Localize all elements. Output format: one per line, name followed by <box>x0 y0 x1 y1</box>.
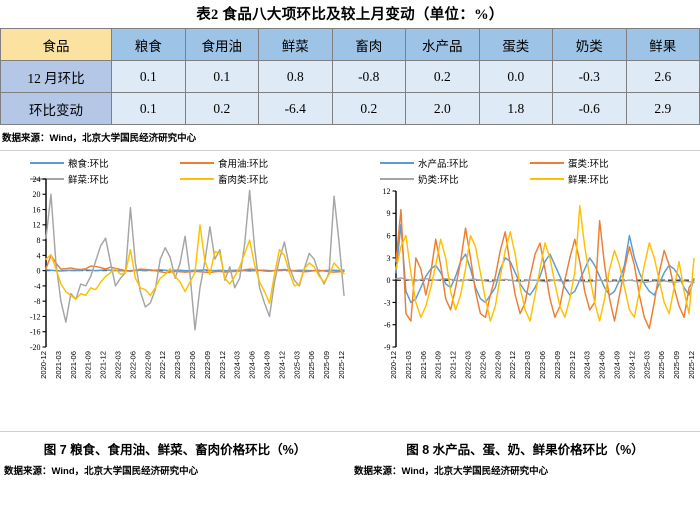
table-header-row: 食品 粮食 食用油 鲜菜 畜肉 水产品 蛋类 奶类 鲜果 <box>1 29 700 61</box>
cell-r1-c7: 2.9 <box>626 93 700 125</box>
svg-text:2024-12: 2024-12 <box>627 351 636 379</box>
svg-text:2023-03: 2023-03 <box>523 351 532 379</box>
cell-r0-c3: -0.8 <box>332 61 406 93</box>
svg-text:2023-09: 2023-09 <box>203 351 212 379</box>
svg-text:2024-06: 2024-06 <box>598 351 607 379</box>
svg-text:-20: -20 <box>30 343 41 352</box>
svg-text:2024-09: 2024-09 <box>263 351 272 379</box>
svg-text:-6: -6 <box>384 321 391 330</box>
table-title: 表2 食品八大项环比及较上月变动（单位：%） <box>0 0 700 28</box>
svg-text:-3: -3 <box>384 298 391 307</box>
svg-text:2021-09: 2021-09 <box>434 351 443 379</box>
svg-text:2020-12: 2020-12 <box>39 351 48 379</box>
figure7-source-note: 数据来源：Wind，北京大学国民经济研究中心 <box>0 463 350 477</box>
cell-r1-c1: 0.2 <box>185 93 259 125</box>
svg-text:-12: -12 <box>30 312 41 321</box>
svg-text:2025-06: 2025-06 <box>657 351 666 379</box>
svg-text:2023-03: 2023-03 <box>173 351 182 379</box>
svg-text:2022-09: 2022-09 <box>143 351 152 379</box>
svg-text:2022-06: 2022-06 <box>478 351 487 379</box>
svg-text:4: 4 <box>37 251 41 260</box>
cell-r1-c0: 0.1 <box>112 93 186 125</box>
cell-r1-c6: -0.6 <box>553 93 627 125</box>
svg-text:2023-12: 2023-12 <box>218 351 227 379</box>
svg-text:2021-12: 2021-12 <box>449 351 458 379</box>
chart-panel-figure7: 粮食:环比 食用油:环比 鲜菜:环比 畜肉类:环比 24201612840-4-… <box>0 151 350 431</box>
table-source-note: 数据来源：Wind，北京大学国民经济研究中心 <box>0 125 700 144</box>
svg-text:2023-06: 2023-06 <box>538 351 547 379</box>
svg-text:2023-12: 2023-12 <box>568 351 577 379</box>
svg-text:20: 20 <box>33 190 41 199</box>
svg-text:2024-03: 2024-03 <box>583 351 592 379</box>
svg-text:2021-06: 2021-06 <box>69 351 78 379</box>
cell-r1-c5: 1.8 <box>479 93 553 125</box>
svg-text:2022-06: 2022-06 <box>128 351 137 379</box>
svg-text:2021-03: 2021-03 <box>54 351 63 379</box>
svg-text:24: 24 <box>33 175 41 184</box>
svg-text:2023-06: 2023-06 <box>188 351 197 379</box>
cell-r0-c5: 0.0 <box>479 61 553 93</box>
svg-text:2025-06: 2025-06 <box>307 351 316 379</box>
row-label-mom-change: 环比变动 <box>1 93 112 125</box>
svg-text:0: 0 <box>387 276 391 285</box>
svg-text:2025-12: 2025-12 <box>337 351 346 379</box>
cell-r1-c2: -6.4 <box>259 93 333 125</box>
cell-r0-c6: -0.3 <box>553 61 627 93</box>
cell-r0-c1: 0.1 <box>185 61 259 93</box>
svg-text:2023-09: 2023-09 <box>553 351 562 379</box>
svg-text:2021-03: 2021-03 <box>404 351 413 379</box>
svg-text:2025-03: 2025-03 <box>292 351 301 379</box>
svg-text:-9: -9 <box>384 343 391 352</box>
cell-r1-c3: 0.2 <box>332 93 406 125</box>
svg-text:2022-03: 2022-03 <box>114 351 123 379</box>
svg-text:2024-06: 2024-06 <box>248 351 257 379</box>
svg-text:2022-09: 2022-09 <box>493 351 502 379</box>
caption-block-figure7: 图 7 粮食、食用油、鲜菜、畜肉价格环比（%） 数据来源：Wind，北京大学国民… <box>0 439 350 477</box>
svg-text:2021-06: 2021-06 <box>419 351 428 379</box>
table-row: 12 月环比 0.1 0.1 0.8 -0.8 0.2 0.0 -0.3 2.6 <box>1 61 700 93</box>
column-header-churou: 畜肉 <box>332 29 406 61</box>
svg-text:2024-09: 2024-09 <box>613 351 622 379</box>
svg-text:2022-12: 2022-12 <box>158 351 167 379</box>
cell-r0-c4: 0.2 <box>406 61 480 93</box>
chart-panel-figure8: 水产品:环比 蛋类:环比 奶类:环比 鲜果:环比 129630-3-6-9202… <box>350 151 700 431</box>
svg-text:2025-03: 2025-03 <box>642 351 651 379</box>
charts-section: 粮食:环比 食用油:环比 鲜菜:环比 畜肉类:环比 24201612840-4-… <box>0 150 700 432</box>
cell-r1-c4: 2.0 <box>406 93 480 125</box>
svg-text:16: 16 <box>33 205 41 214</box>
svg-text:2025-12: 2025-12 <box>687 351 696 379</box>
cell-r0-c0: 0.1 <box>112 61 186 93</box>
svg-text:12: 12 <box>383 187 391 196</box>
svg-text:3: 3 <box>387 254 391 263</box>
svg-text:2024-12: 2024-12 <box>277 351 286 379</box>
column-header-danlei: 蛋类 <box>479 29 553 61</box>
cell-r0-c2: 0.8 <box>259 61 333 93</box>
report-page: 表2 食品八大项环比及较上月变动（单位：%） 食品 粮食 食用油 鲜菜 畜肉 水… <box>0 0 700 530</box>
svg-text:2021-09: 2021-09 <box>84 351 93 379</box>
figure8-caption: 图 8 水产品、蛋、奶、鲜果价格环比（%） <box>350 439 700 463</box>
svg-text:9: 9 <box>387 209 391 218</box>
svg-text:8: 8 <box>37 236 41 245</box>
svg-text:2025-09: 2025-09 <box>322 351 331 379</box>
caption-block-figure8: 图 8 水产品、蛋、奶、鲜果价格环比（%） 数据来源：Wind，北京大学国民经济… <box>350 439 700 477</box>
figure8-source-note: 数据来源：Wind，北京大学国民经济研究中心 <box>350 463 700 477</box>
column-header-xianguo: 鲜果 <box>626 29 700 61</box>
plot-area-figure7: 24201612840-4-8-12-16-202020-122021-0320… <box>0 151 350 431</box>
svg-text:2024-03: 2024-03 <box>233 351 242 379</box>
svg-text:-16: -16 <box>30 328 41 337</box>
svg-text:-4: -4 <box>34 282 41 291</box>
svg-text:0: 0 <box>37 267 41 276</box>
svg-text:2020-12: 2020-12 <box>389 351 398 379</box>
svg-text:2025-09: 2025-09 <box>672 351 681 379</box>
figure7-caption: 图 7 粮食、食用油、鲜菜、畜肉价格环比（%） <box>0 439 350 463</box>
svg-text:6: 6 <box>387 231 391 240</box>
row-label-mom-december: 12 月环比 <box>1 61 112 93</box>
plot-area-figure8: 129630-3-6-92020-122021-032021-062021-09… <box>350 151 700 431</box>
column-header-shiyongyou: 食用油 <box>185 29 259 61</box>
food-categories-table: 食品 粮食 食用油 鲜菜 畜肉 水产品 蛋类 奶类 鲜果 12 月环比 0.1 … <box>0 28 700 125</box>
column-header-liangshi: 粮食 <box>112 29 186 61</box>
svg-text:2021-12: 2021-12 <box>99 351 108 379</box>
table-row: 环比变动 0.1 0.2 -6.4 0.2 2.0 1.8 -0.6 2.9 <box>1 93 700 125</box>
column-header-nailei: 奶类 <box>553 29 627 61</box>
table-section: 表2 食品八大项环比及较上月变动（单位：%） 食品 粮食 食用油 鲜菜 畜肉 水… <box>0 0 700 144</box>
cell-r0-c7: 2.6 <box>626 61 700 93</box>
svg-text:2022-12: 2022-12 <box>508 351 517 379</box>
svg-text:12: 12 <box>33 221 41 230</box>
svg-text:2022-03: 2022-03 <box>464 351 473 379</box>
column-header-shuichanpin: 水产品 <box>406 29 480 61</box>
table-corner-label: 食品 <box>1 29 112 61</box>
svg-text:-8: -8 <box>34 297 41 306</box>
column-header-xiancai: 鲜菜 <box>259 29 333 61</box>
